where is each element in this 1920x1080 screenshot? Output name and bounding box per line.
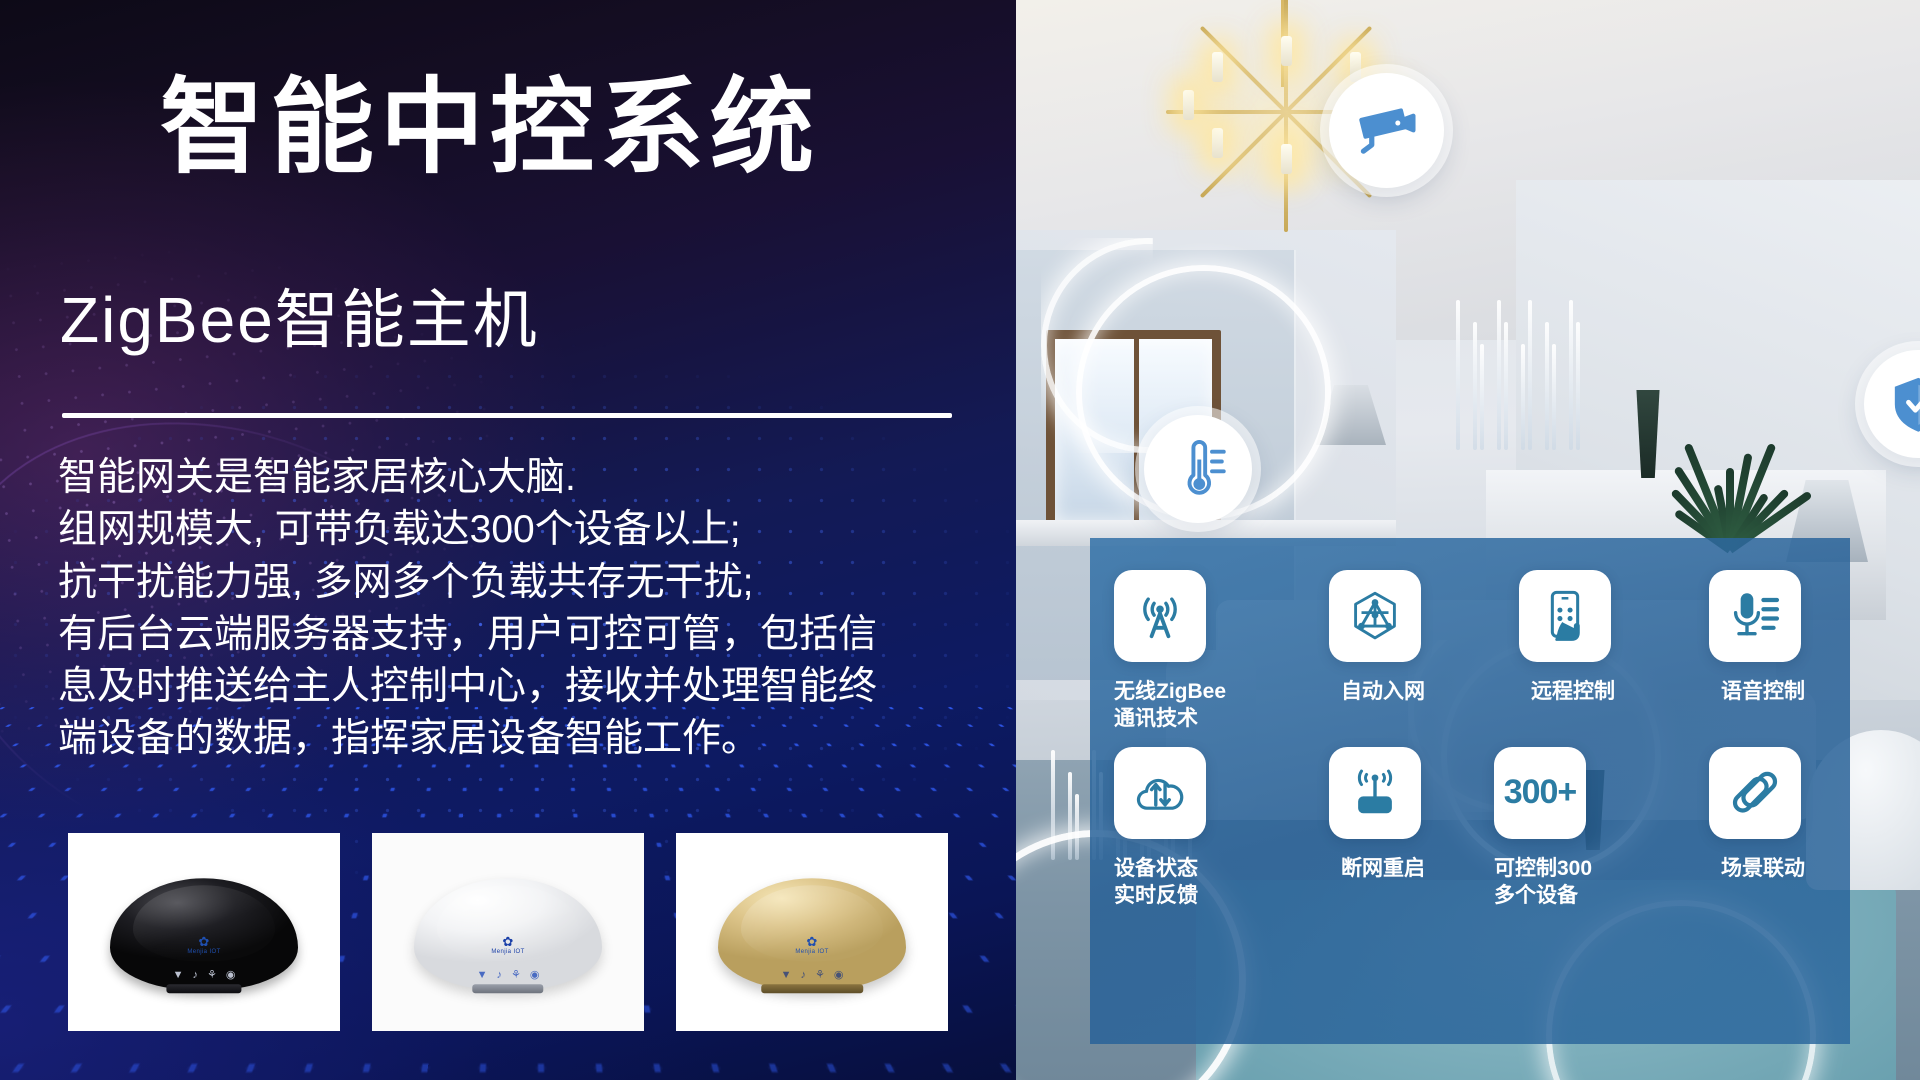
title-divider <box>62 413 952 418</box>
feature-item-voice-control[interactable]: 语音控制 <box>1660 564 1850 733</box>
feature-label-line2: 通讯技术 <box>1114 705 1280 732</box>
hub-indicator-icons: ▼ ♪ ⚘ ◉ <box>173 970 236 981</box>
scene-plant <box>1641 400 1811 550</box>
feature-label-line1: 无线ZigBee <box>1114 680 1226 703</box>
description-line: 智能网关是智能家居核心大脑. <box>58 452 998 504</box>
feature-item-wireless-zigbee[interactable]: 无线ZigBee 通讯技术 <box>1090 564 1280 733</box>
cloud-sync-icon <box>1114 747 1206 839</box>
feature-label-line1: 断网重启 <box>1341 857 1425 880</box>
hub-vent-slot <box>472 985 543 994</box>
feature-item-auto-network[interactable]: 自动入网 <box>1280 564 1470 733</box>
chandelier-candle <box>1281 36 1292 66</box>
network-mesh-icon <box>1329 570 1421 662</box>
hub-led-icon: ⚘ <box>511 970 521 981</box>
chandelier-candle <box>1183 90 1194 120</box>
feature-label-line1: 场景联动 <box>1721 857 1805 880</box>
hub-logo: ✿ Menjia IOT <box>159 936 249 957</box>
chandelier-candle <box>1281 144 1292 174</box>
hub-led-icon: ▼ <box>781 970 792 981</box>
product-photo-card[interactable]: ✿ Menjia IOT ▼ ♪ ⚘ ◉ <box>372 833 644 1031</box>
description-line: 抗干扰能力强, 多网多个负载共存无干扰; <box>58 557 998 609</box>
feature-label-line1: 设备状态 <box>1114 857 1198 880</box>
hub-logo-mark: ✿ <box>767 936 857 949</box>
left-info-panel: 智能中控系统 ZigBee智能主机 智能网关是智能家居核心大脑. 组网规模大, … <box>0 0 1016 1080</box>
description-paragraph: 智能网关是智能家居核心大脑. 组网规模大, 可带负载达300个设备以上; 抗干扰… <box>58 452 998 766</box>
product-photo-card[interactable]: ✿ Menjia IOT ▼ ♪ ⚘ ◉ <box>68 833 340 1031</box>
feature-label: 无线ZigBee 通讯技术 <box>1114 678 1280 733</box>
router-icon <box>1329 747 1421 839</box>
hub-brand-text: Menjia IOT <box>767 949 857 957</box>
feature-label-line1: 语音控制 <box>1721 680 1805 703</box>
feature-item-device-capacity[interactable]: 300+ 可控制300 多个设备 <box>1470 741 1660 910</box>
feature-label-line2: 多个设备 <box>1494 882 1660 909</box>
feature-label-line1: 可控制300 <box>1494 857 1592 880</box>
product-photo-card[interactable]: ✿ Menjia IOT ▼ ♪ ⚘ ◉ <box>676 833 948 1031</box>
feature-label: 场景联动 <box>1660 855 1850 882</box>
smart-hub-device-white: ✿ Menjia IOT ▼ ♪ ⚘ ◉ <box>414 878 602 990</box>
feature-panel: 无线ZigBee 通讯技术 自动 <box>1090 538 1850 1044</box>
hub-led-icon: ♪ <box>800 970 806 981</box>
hub-logo: ✿ Menjia IOT <box>767 936 857 957</box>
wireless-tower-icon <box>1114 570 1206 662</box>
page-title: 智能中控系统 <box>160 72 980 184</box>
feature-label-line2: 实时反馈 <box>1114 882 1280 909</box>
smart-hub-device-black: ✿ Menjia IOT ▼ ♪ ⚘ ◉ <box>110 878 298 990</box>
feature-item-scene-linkage[interactable]: 场景联动 <box>1660 741 1850 910</box>
hub-logo-mark: ✿ <box>159 936 249 949</box>
smart-hub-device-gold: ✿ Menjia IOT ▼ ♪ ⚘ ◉ <box>718 878 906 990</box>
feature-label: 语音控制 <box>1660 678 1850 705</box>
feature-label: 自动入网 <box>1280 678 1470 705</box>
feature-label: 可控制300 多个设备 <box>1494 855 1660 910</box>
hub-logo: ✿ Menjia IOT <box>463 936 553 957</box>
scene-glass-sculpture <box>1456 250 1626 450</box>
device-count-value: 300+ <box>1504 773 1577 812</box>
chandelier-candle <box>1350 52 1361 82</box>
cctv-camera-icon[interactable] <box>1329 73 1444 188</box>
hub-led-icon: ▼ <box>477 970 488 981</box>
feature-item-device-status[interactable]: 设备状态 实时反馈 <box>1090 741 1280 910</box>
hub-led-icon: ♪ <box>496 970 502 981</box>
glass-rod <box>1552 344 1556 450</box>
hub-led-icon: ⚘ <box>815 970 825 981</box>
glass-rod <box>1456 300 1460 450</box>
description-line: 端设备的数据，指挥家居设备智能工作。 <box>58 713 998 765</box>
hub-brand-text: Menjia IOT <box>159 949 249 957</box>
feature-label-line1: 自动入网 <box>1341 680 1425 703</box>
feature-grid: 无线ZigBee 通讯技术 自动 <box>1090 564 1850 909</box>
glass-rod <box>1497 300 1501 450</box>
product-photo-strip: ✿ Menjia IOT ▼ ♪ ⚘ ◉ ✿ <box>68 833 948 1033</box>
chandelier-candle <box>1212 128 1223 158</box>
glass-rod <box>1569 300 1573 450</box>
hub-vent-slot <box>761 985 863 994</box>
thermometer-icon[interactable] <box>1144 415 1252 523</box>
glass-rod <box>1473 322 1477 450</box>
feature-item-network-reboot[interactable]: 断网重启 <box>1280 741 1470 910</box>
glass-rod <box>1504 322 1508 450</box>
hub-led-icon: ⚘ <box>207 970 217 981</box>
chain-link-icon <box>1709 747 1801 839</box>
description-line: 息及时推送给主人控制中心，接收并处理智能终 <box>58 661 998 713</box>
glass-rod <box>1545 322 1549 450</box>
feature-label: 设备状态 实时反馈 <box>1114 855 1280 910</box>
phone-touch-icon <box>1519 570 1611 662</box>
hub-led-icon: ◉ <box>834 970 844 981</box>
feature-label: 断网重启 <box>1280 855 1470 882</box>
chandelier-candle <box>1212 52 1223 82</box>
hub-indicator-icons: ▼ ♪ ⚘ ◉ <box>781 970 844 981</box>
hub-vent-slot <box>166 985 241 994</box>
glass-rod <box>1576 322 1580 450</box>
hub-brand-text: Menjia IOT <box>463 949 553 957</box>
hub-led-icon: ◉ <box>530 970 540 981</box>
feature-label-line1: 远程控制 <box>1531 680 1615 703</box>
hub-indicator-icons: ▼ ♪ ⚘ ◉ <box>477 970 540 981</box>
glass-rod <box>1480 344 1484 450</box>
count-300-plus-icon: 300+ <box>1494 747 1586 839</box>
glass-rod <box>1521 344 1525 450</box>
glass-rod <box>1528 300 1532 450</box>
hub-led-icon: ♪ <box>192 970 198 981</box>
description-line: 有后台云端服务器支持，用户可控可管，包括信 <box>58 609 998 661</box>
hub-led-icon: ▼ <box>173 970 184 981</box>
feature-label: 远程控制 <box>1470 678 1660 705</box>
feature-item-remote-control[interactable]: 远程控制 <box>1470 564 1660 733</box>
page-subtitle: ZigBee智能主机 <box>60 285 960 355</box>
microphone-icon <box>1709 570 1801 662</box>
description-line: 组网规模大, 可带负载达300个设备以上; <box>58 504 998 556</box>
poster-canvas: 智能中控系统 ZigBee智能主机 智能网关是智能家居核心大脑. 组网规模大, … <box>0 0 1920 1080</box>
hub-logo-mark: ✿ <box>463 936 553 949</box>
hub-led-icon: ◉ <box>226 970 236 981</box>
